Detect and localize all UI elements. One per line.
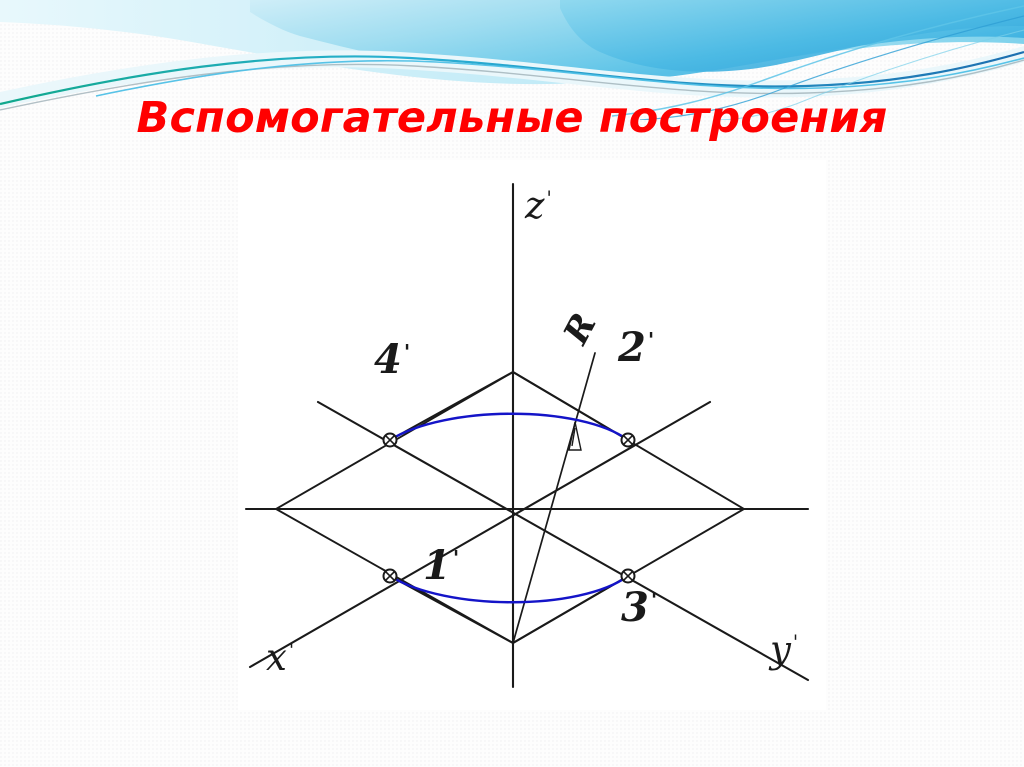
axis-label-z-prime: ' xyxy=(545,187,552,210)
point-label-4-text: 4 xyxy=(374,336,402,383)
axis-label-x-text: x xyxy=(266,636,287,679)
point-label-1-text: 1 xyxy=(423,542,451,589)
point-label-3-prime: ' xyxy=(649,587,657,612)
point-marker-3 xyxy=(622,570,635,583)
point-label-2-text: 2 xyxy=(618,324,646,371)
point-label-2: 2' xyxy=(618,324,654,371)
point-label-1: 1' xyxy=(423,542,459,589)
axis-label-y-prime: ' xyxy=(791,631,798,654)
slide-title: Вспомогательные построения xyxy=(0,97,1024,140)
point-marker-4 xyxy=(384,434,397,447)
point-label-3: 3' xyxy=(621,584,657,631)
point-label-4: 4' xyxy=(374,336,410,383)
point-marker-2 xyxy=(622,434,635,447)
axis-label-x: x' xyxy=(266,636,294,679)
point-marker-1 xyxy=(384,570,397,583)
point-label-3-text: 3 xyxy=(621,584,649,631)
isometric-construction-drawing xyxy=(238,160,826,710)
figure-panel: z' x' y' 4' 2' 1' 3' R xyxy=(238,160,826,710)
axis-label-z-text: z xyxy=(525,184,545,227)
point-label-2-prime: ' xyxy=(646,327,654,352)
axis-label-z: z' xyxy=(525,184,552,227)
point-label-1-prime: ' xyxy=(451,545,459,570)
axis-label-y: y' xyxy=(770,628,798,671)
axis-label-x-prime: ' xyxy=(287,639,294,662)
axis-label-y-text: y xyxy=(770,628,791,671)
slide-canvas: Вспомогательные построения xyxy=(0,0,1024,767)
point-label-4-prime: ' xyxy=(402,339,410,364)
